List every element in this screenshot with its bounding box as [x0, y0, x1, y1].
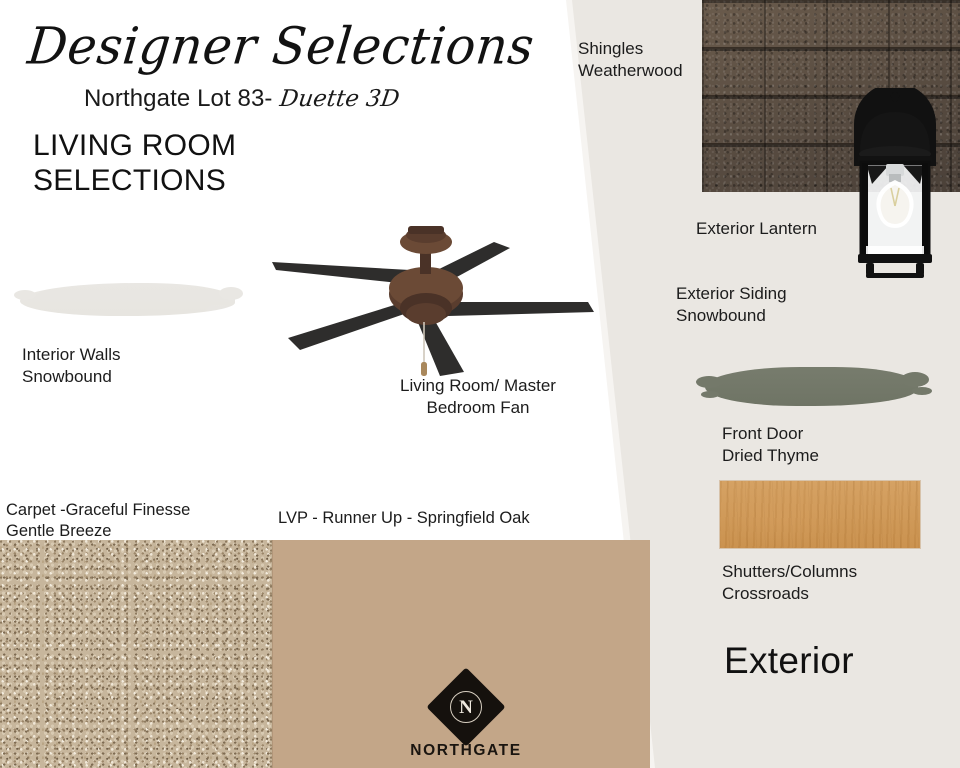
lvp-label: LVP - Runner Up - Springfield Oak	[278, 508, 530, 529]
shutters-columns-swatch	[720, 481, 920, 548]
logo-diamond-icon: N	[426, 667, 505, 746]
exterior-lantern-image	[836, 88, 954, 284]
page-title: Designer Selections	[25, 17, 537, 76]
section-title-exterior: Exterior	[724, 640, 854, 682]
northgate-logo: N NORTHGATE	[404, 679, 528, 760]
exterior-lantern-label: Exterior Lantern	[696, 218, 817, 240]
shingles-label: Shingles Weatherwood	[578, 38, 683, 82]
carpet-label: Carpet -Graceful Finesse Gentle Breeze	[6, 500, 190, 543]
logo-monogram: N	[450, 691, 482, 723]
ceiling-fan-image	[258, 222, 598, 382]
subtitle-plan: Duette 3D	[278, 86, 401, 112]
front-door-label: Front Door Dried Thyme	[722, 423, 819, 467]
designer-selections-board: Designer Selections Northgate Lot 83- Du…	[0, 0, 960, 768]
carpet-sample	[0, 540, 272, 768]
ceiling-fan-label: Living Room/ Master Bedroom Fan	[378, 375, 578, 419]
section-title-living-room: LIVING ROOM SELECTIONS	[33, 128, 236, 198]
subtitle: Northgate Lot 83- Duette 3D	[84, 85, 399, 113]
flooring-seam	[272, 540, 273, 768]
interior-walls-label: Interior Walls Snowbound	[22, 344, 121, 388]
interior-walls-swatch	[20, 283, 235, 316]
shutters-columns-label: Shutters/Columns Crossroads	[722, 561, 857, 605]
front-door-swatch	[705, 367, 918, 406]
exterior-siding-label: Exterior Siding Snowbound	[676, 283, 787, 327]
subtitle-lot: Northgate Lot 83-	[84, 85, 273, 113]
